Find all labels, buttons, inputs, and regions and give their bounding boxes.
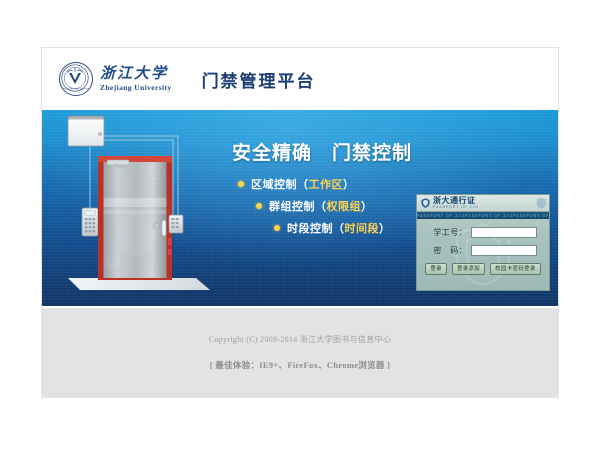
login-passport-strip: PASSPORT OF ZJU PASSPORT OF ZJU PASSPORT… bbox=[417, 212, 549, 219]
login-button[interactable]: 登录 bbox=[425, 263, 447, 275]
site-footer: Copyright (C) 2008-2014 浙江大学图书与信息中心 [ 最佳… bbox=[42, 306, 558, 398]
page-root: ZHEJIANG UNIVERSITY 浙江大学 Zhejiang Univer… bbox=[0, 0, 600, 450]
browser-compatibility-note: [ 最佳体验：IE9+、FireFox、Chrome浏览器 ] bbox=[42, 359, 558, 371]
feature-list: 区域控制（工作区） 群组控制（权限组） 时段控制（时间段） bbox=[238, 176, 438, 242]
bullet-dot-icon bbox=[256, 203, 262, 209]
strip-text: PASSPORT OF ZJU bbox=[465, 214, 513, 218]
password-label: 密 码： bbox=[425, 245, 467, 256]
login-add-button[interactable]: 登录添加 bbox=[452, 263, 485, 275]
feature-item-time-control: 时段控制（时间段） bbox=[274, 220, 438, 236]
password-input[interactable] bbox=[471, 245, 537, 256]
campus-card-login-button[interactable]: 校园卡密码登录 bbox=[490, 263, 541, 275]
site-container: ZHEJIANG UNIVERSITY 浙江大学 Zhejiang Univer… bbox=[42, 48, 558, 396]
student-staff-id-label: 学工号： bbox=[425, 227, 467, 238]
bullet-dot-icon bbox=[238, 181, 244, 187]
login-brand: 浙大通行证 PASSPORT OF ZJU bbox=[433, 197, 479, 209]
university-logo[interactable]: ZHEJIANG UNIVERSITY 浙江大学 Zhejiang Univer… bbox=[59, 62, 172, 96]
feature-item-label: 群组控制（权限组） bbox=[269, 198, 373, 214]
zju-seal-icon: ZHEJIANG UNIVERSITY bbox=[59, 62, 93, 96]
student-staff-id-input[interactable] bbox=[471, 227, 537, 238]
login-panel-header: 浙大通行证 PASSPORT OF ZJU bbox=[417, 195, 549, 212]
feature-item-label: 时段控制（时间段） bbox=[287, 220, 391, 236]
university-wordmark: 浙江大学 Zhejiang University bbox=[100, 67, 172, 92]
login-field-row: 学工号： bbox=[425, 227, 549, 238]
page-title: 门禁管理平台 bbox=[202, 67, 316, 92]
university-name-cn: 浙江大学 bbox=[100, 67, 172, 82]
feature-item-label: 区域控制（工作区） bbox=[251, 176, 355, 192]
feature-item-area-control: 区域控制（工作区） bbox=[238, 176, 438, 192]
hero-banner: 安全精确 门禁控制 区域控制（工作区） 群组控制（权限组） 时段控制（时间段） bbox=[42, 110, 558, 306]
access-control-door-illustration bbox=[50, 110, 220, 306]
svg-text:ZHEJIANG UNIVERSITY: ZHEJIANG UNIVERSITY bbox=[61, 88, 89, 91]
site-header: ZHEJIANG UNIVERSITY 浙江大学 Zhejiang Univer… bbox=[42, 48, 558, 110]
shield-watermark-icon bbox=[536, 197, 547, 209]
login-panel: 浙大通行证 PASSPORT OF ZJU PASSPORT OF ZJU PA… bbox=[416, 194, 550, 291]
login-brand-cn: 浙大通行证 bbox=[433, 197, 479, 205]
login-form: 学工号： 密 码： 登录 登录添加 校园卡密码登录 bbox=[417, 219, 549, 291]
feature-item-group-control: 群组控制（权限组） bbox=[256, 198, 438, 214]
copyright-text: Copyright (C) 2008-2014 浙江大学图书与信息中心 bbox=[42, 334, 558, 345]
banner-headline: 安全精确 门禁控制 bbox=[232, 138, 412, 165]
strip-text: PASSPORT OF ZJU bbox=[417, 214, 465, 218]
login-brand-en: PASSPORT OF ZJU bbox=[433, 206, 479, 209]
bullet-dot-icon bbox=[274, 225, 280, 231]
strip-text: PASSPORT OF ZJU bbox=[513, 214, 549, 218]
university-name-en: Zhejiang University bbox=[100, 84, 172, 92]
login-field-row: 密 码： bbox=[425, 245, 549, 256]
login-actions: 登录 登录添加 校园卡密码登录 bbox=[417, 263, 549, 275]
shield-icon bbox=[421, 198, 430, 208]
